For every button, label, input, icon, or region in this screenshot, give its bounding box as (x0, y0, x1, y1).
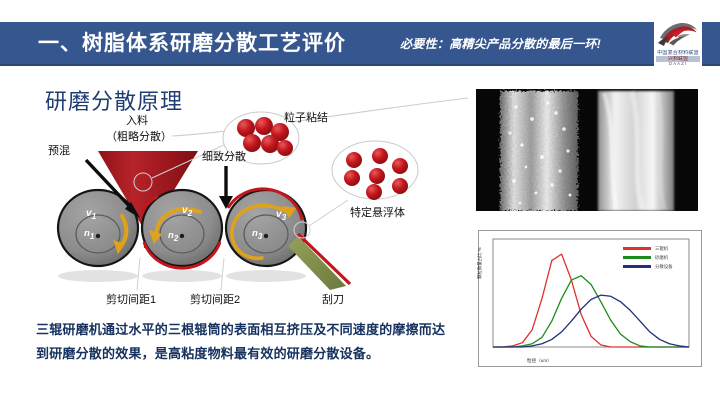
label-scraper: 刮刀 (322, 293, 344, 307)
roller-3-speed-label: v3 (276, 209, 286, 222)
brand-logo: 中国复合材料联盟 兴邦联盟 DAAZI (654, 20, 702, 66)
roller-1-rpm-label: n1 (84, 228, 94, 241)
legend-swatch-1 (623, 256, 651, 259)
slide-canvas: 一、树脂体系研磨分散工艺评价 必要性：高精尖产品分散的最后一环! 中国复合材料联… (0, 0, 720, 405)
legend-item: 砂磨机 (623, 254, 689, 261)
label-shear-gap-2: 剪切间距2 (190, 293, 240, 307)
three-roll-mill-diagram: 入料 （粗略分散） 预混 粒子粘结 细致分散 特定悬浮体 剪切间距1 剪切间距2… (30, 108, 450, 313)
eagle-emblem-icon (657, 21, 699, 49)
label-fine-dispersion: 细致分散 (202, 150, 246, 164)
label-suspension: 特定悬浮体 (350, 206, 405, 220)
page-title: 一、树脂体系研磨分散工艺评价 (38, 28, 398, 60)
roller-1-speed-label: v1 (86, 208, 96, 221)
legend-item: 分散设备 (623, 263, 689, 270)
label-feed: 入料 (126, 114, 148, 128)
paste-comparison-photo (476, 89, 698, 211)
label-agglomerate: 粒子粘结 (284, 111, 328, 125)
label-premix: 预混 (48, 144, 70, 158)
roller-3-rpm-label: n3 (252, 228, 262, 241)
roller-2-rpm-label: n2 (168, 230, 178, 243)
description-paragraph: 三辊研磨机通过水平的三根辊筒的表面相互挤压及不同速度的摩擦而达到研磨分散的效果，… (36, 318, 456, 366)
roller-2-speed-label: v2 (182, 205, 192, 218)
legend-swatch-0 (623, 247, 651, 250)
logo-latin-text: DAAZI (656, 61, 700, 67)
legend-item: 三辊机 (623, 245, 689, 252)
legend-label-0: 三辊机 (655, 246, 668, 252)
legend-label-2: 分散设备 (655, 264, 673, 270)
legend-label-1: 砂磨机 (655, 255, 668, 261)
particle-size-distribution-chart: 颗粒数量占比 % 粒径（um） 三辊机 砂磨机 分散设备 (478, 230, 702, 367)
chart-legend: 三辊机 砂磨机 分散设备 (623, 245, 689, 272)
chart-y-axis-label: 颗粒数量占比 % (477, 219, 483, 279)
label-shear-gap-1: 剪切间距1 (106, 293, 156, 307)
label-feed-sub: （粗略分散） (106, 130, 172, 144)
chart-x-axis-label: 粒径（um） (527, 358, 552, 364)
header-subtitle: 必要性：高精尖产品分散的最后一环! (400, 33, 640, 55)
paste-photo-svg (476, 89, 698, 211)
legend-swatch-2 (623, 265, 651, 268)
